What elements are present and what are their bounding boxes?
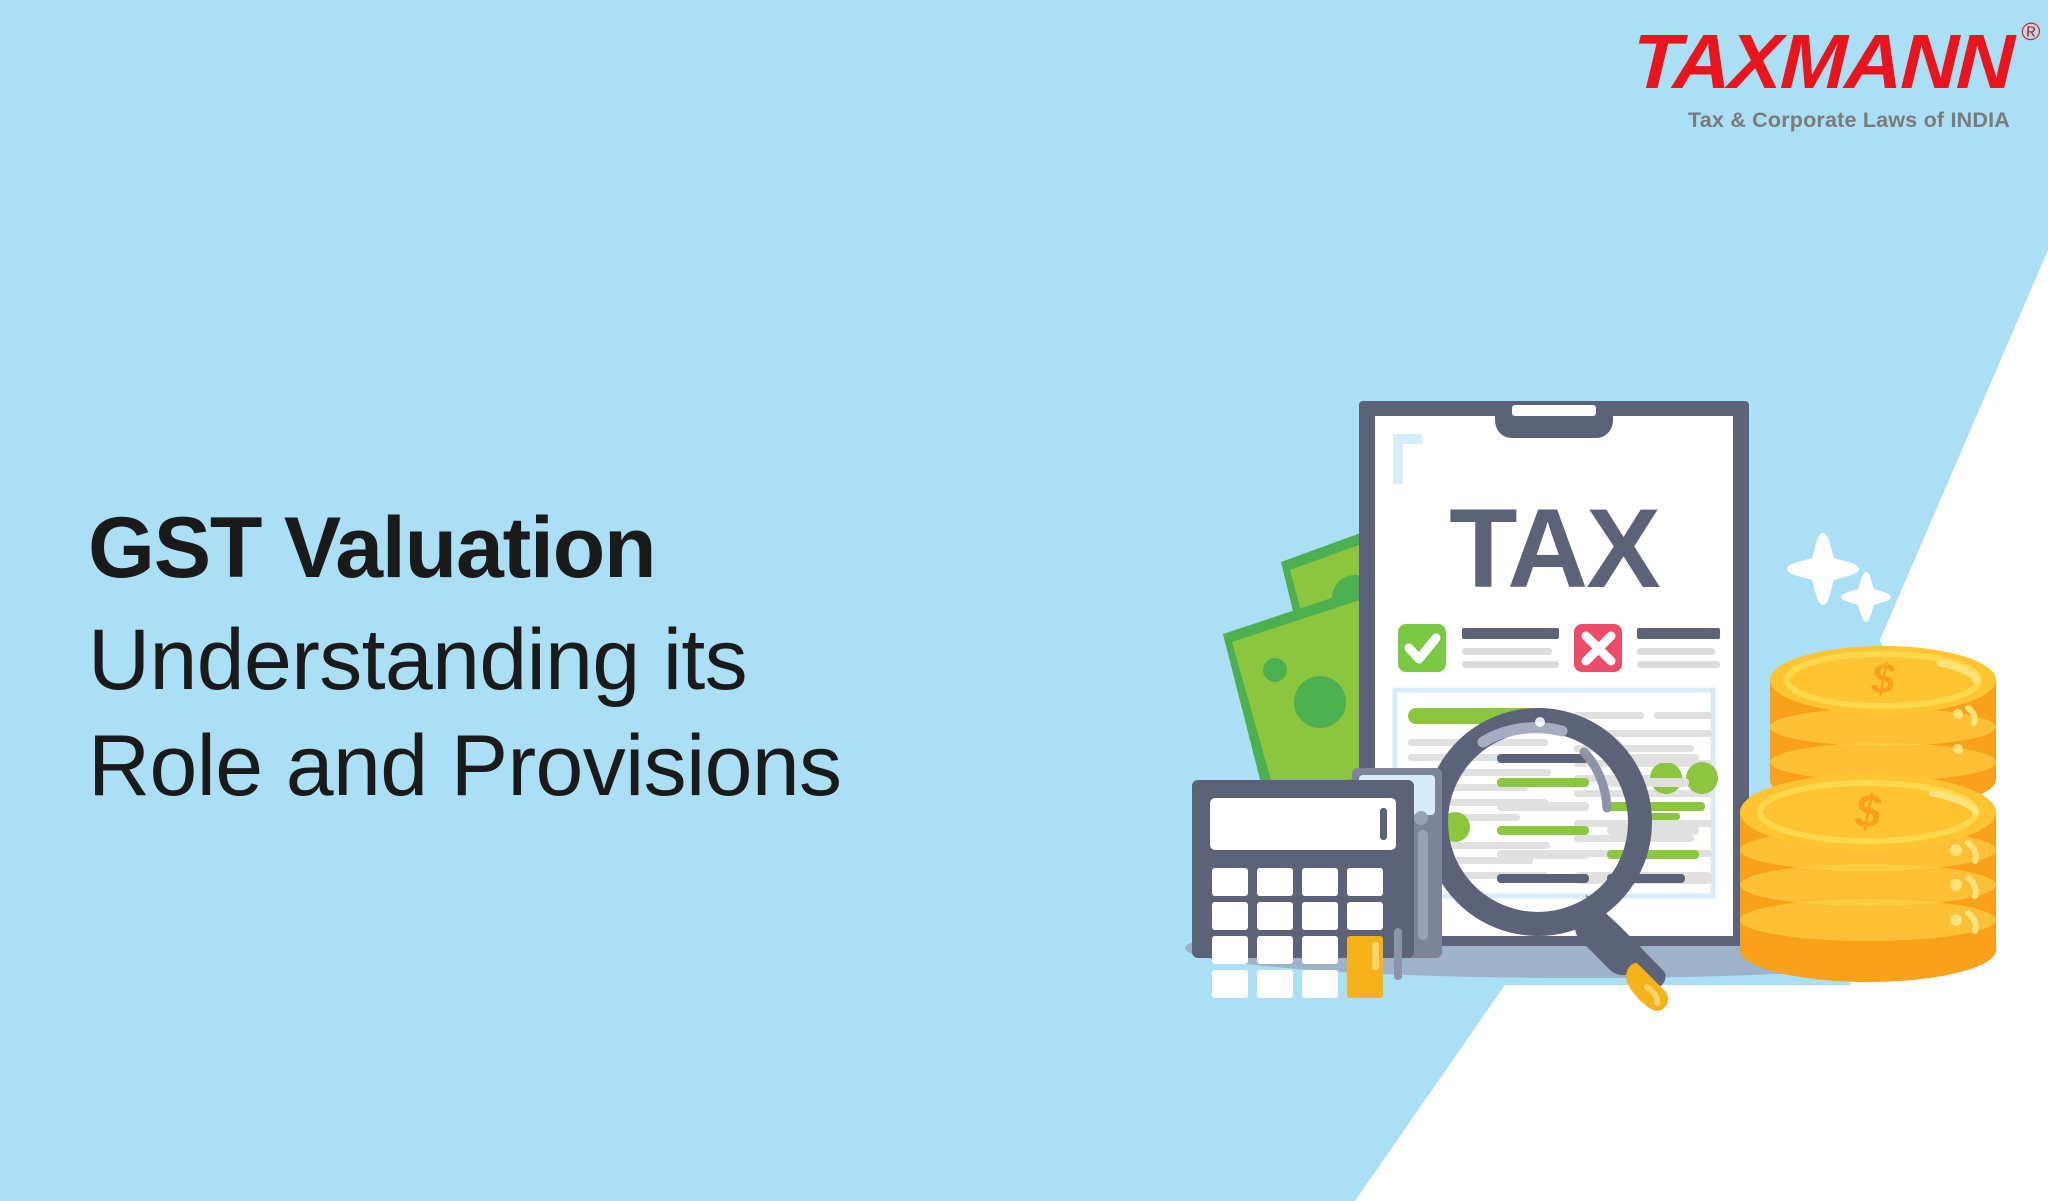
sparkle-icon-small	[1841, 572, 1891, 622]
document-title-tax: TAX	[1449, 486, 1660, 611]
banner-canvas: TAXMANN® Tax & Corporate Laws of INDIA G…	[0, 0, 2048, 1201]
logo-wordmark: TAXMANN®	[1631, 24, 2014, 101]
calculator-accent-key	[1347, 936, 1383, 998]
headline-line-1: GST Valuation	[88, 505, 841, 591]
tax-illustration: $ TAX	[1150, 350, 2048, 1050]
cross-badge-icon	[1574, 624, 1622, 672]
coin-stack: $ $	[1740, 646, 1996, 982]
logo-wordmark-text: TAXMANN	[1631, 19, 2014, 105]
taxmann-logo[interactable]: TAXMANN® Tax & Corporate Laws of INDIA	[1647, 24, 2012, 132]
headline-line-2: Understanding its	[88, 617, 841, 703]
calculator-display	[1210, 798, 1396, 850]
coin-dollar-symbol-front: $	[1854, 785, 1881, 837]
registered-trademark-icon: ®	[2021, 20, 2041, 45]
check-badge-icon	[1398, 624, 1446, 672]
logo-tagline: Tax & Corporate Laws of INDIA	[1647, 110, 2010, 132]
coin-stack-front: $	[1740, 774, 1996, 982]
coin-dollar-symbol-back: $	[1870, 655, 1895, 702]
headline-line-3: Role and Provisions	[88, 723, 841, 809]
page-title: GST Valuation Understanding its Role and…	[88, 505, 841, 809]
